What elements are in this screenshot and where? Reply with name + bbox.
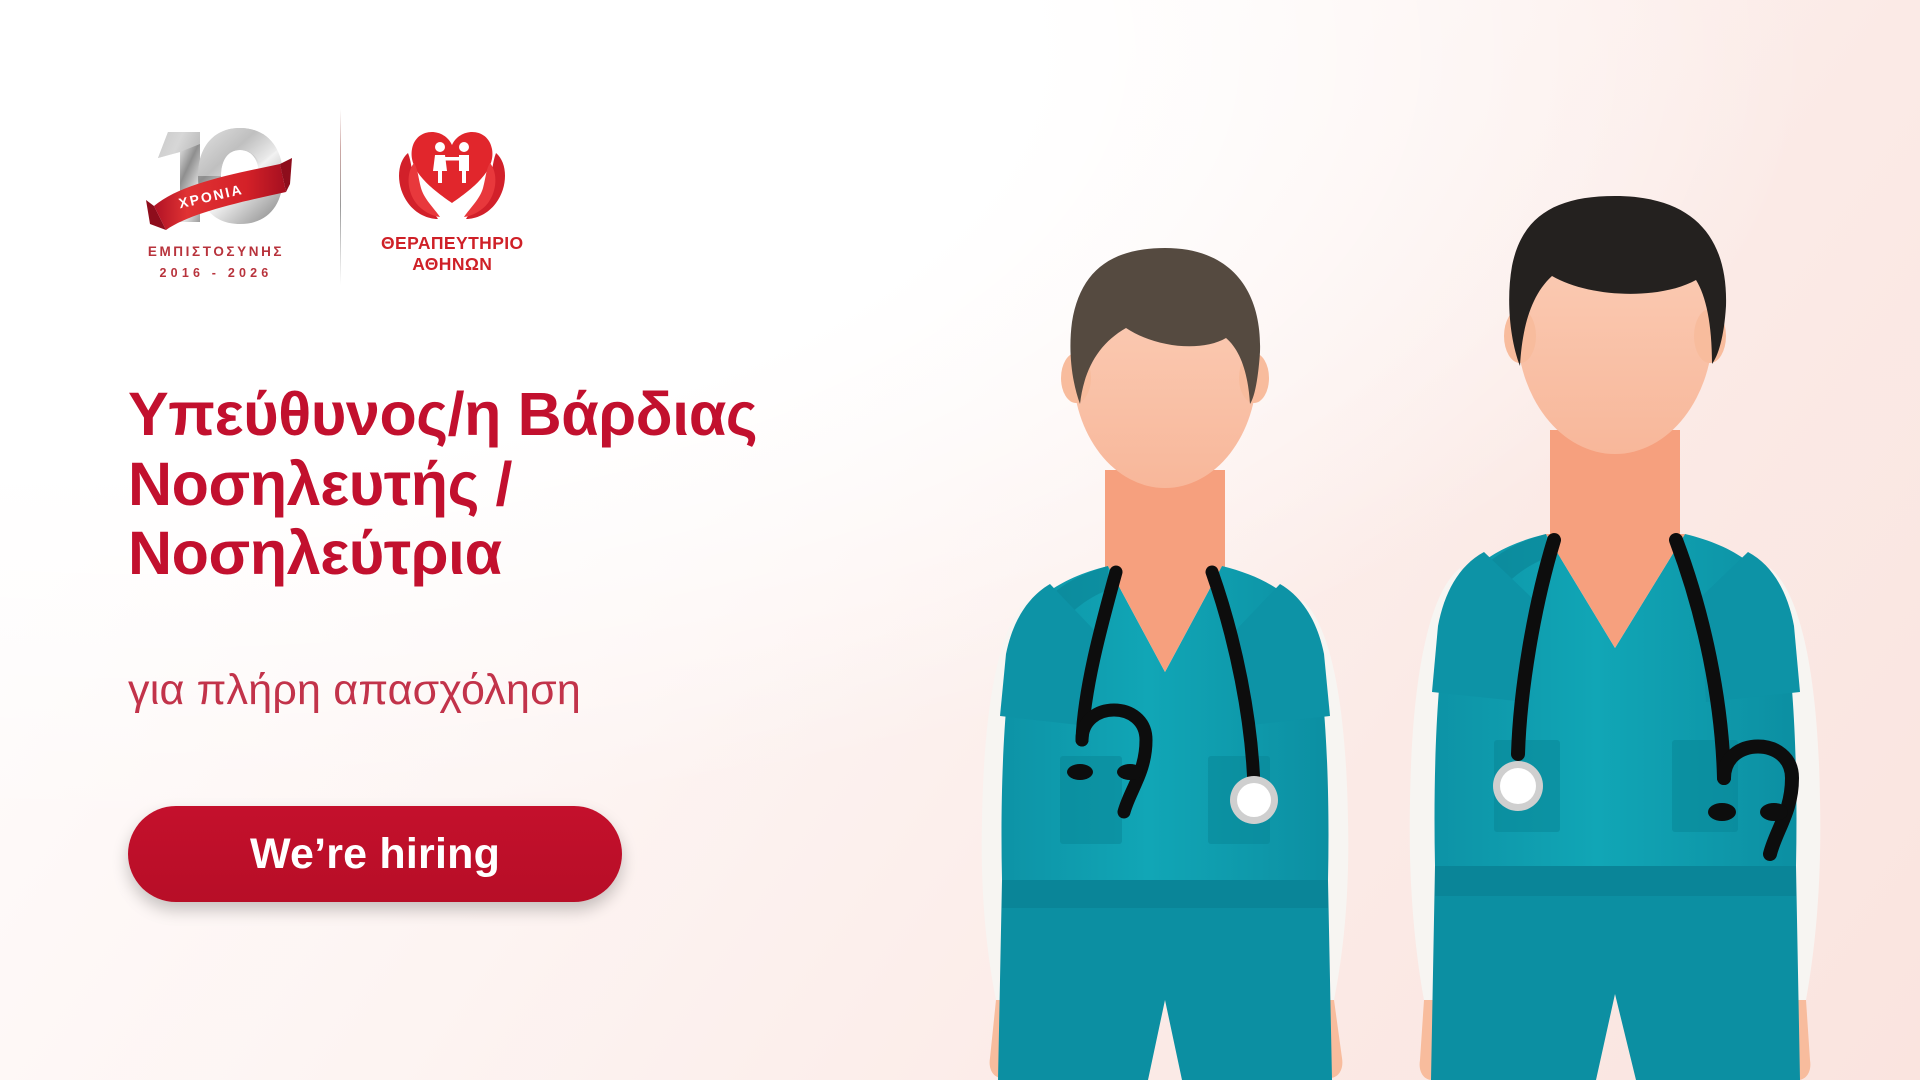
scrubs-pants-right — [1431, 866, 1800, 1080]
subheadline: για πλήρη απασχόληση — [128, 666, 581, 715]
headline-line-3: Νοσηλεύτρια — [128, 519, 1008, 589]
hospital-name-line2: ΑΘΗΝΩΝ — [381, 254, 524, 275]
nurses-illustration — [960, 0, 1920, 1080]
anniversary-subtitle: ΕΜΠΙΣΤΟΣΥΝΗΣ — [148, 244, 284, 259]
nurse-right — [1410, 196, 1821, 1080]
heart-in-hands-icon — [390, 119, 514, 223]
hospital-name-line1: ΘΕΡΑΠΕΥΤΗΡΙΟ — [381, 233, 524, 254]
nurse-left — [982, 248, 1349, 1080]
we-are-hiring-button[interactable]: We’re hiring — [128, 806, 622, 902]
anniversary-logo: ΧΡΟΝΙΑ ΕΜΠΙΣΤΟΣΥΝΗΣ 2016 - 2026 — [128, 114, 304, 280]
headline-line-2: Νοσηλευτής / — [128, 450, 1008, 520]
page-title: Υπεύθυνος/η Βάρδιας Νοσηλευτής / Νοσηλεύ… — [128, 380, 1008, 589]
headline-line-1: Υπεύθυνος/η Βάρδιας — [128, 380, 1008, 450]
anniversary-10-mark: ΧΡΟΝΙΑ — [140, 114, 292, 232]
anniversary-years: 2016 - 2026 — [160, 266, 273, 280]
hospital-name: ΘΕΡΑΠΕΥΤΗΡΙΟ ΑΘΗΝΩΝ — [381, 233, 524, 276]
brand-bar: ΧΡΟΝΙΑ ΕΜΠΙΣΤΟΣΥΝΗΣ 2016 - 2026 — [128, 104, 524, 290]
hospital-logo: ΘΕΡΑΠΕΥΤΗΡΙΟ ΑΘΗΝΩΝ — [381, 119, 524, 276]
scrubs-pants-left — [998, 880, 1332, 1080]
brand-divider — [340, 109, 341, 285]
